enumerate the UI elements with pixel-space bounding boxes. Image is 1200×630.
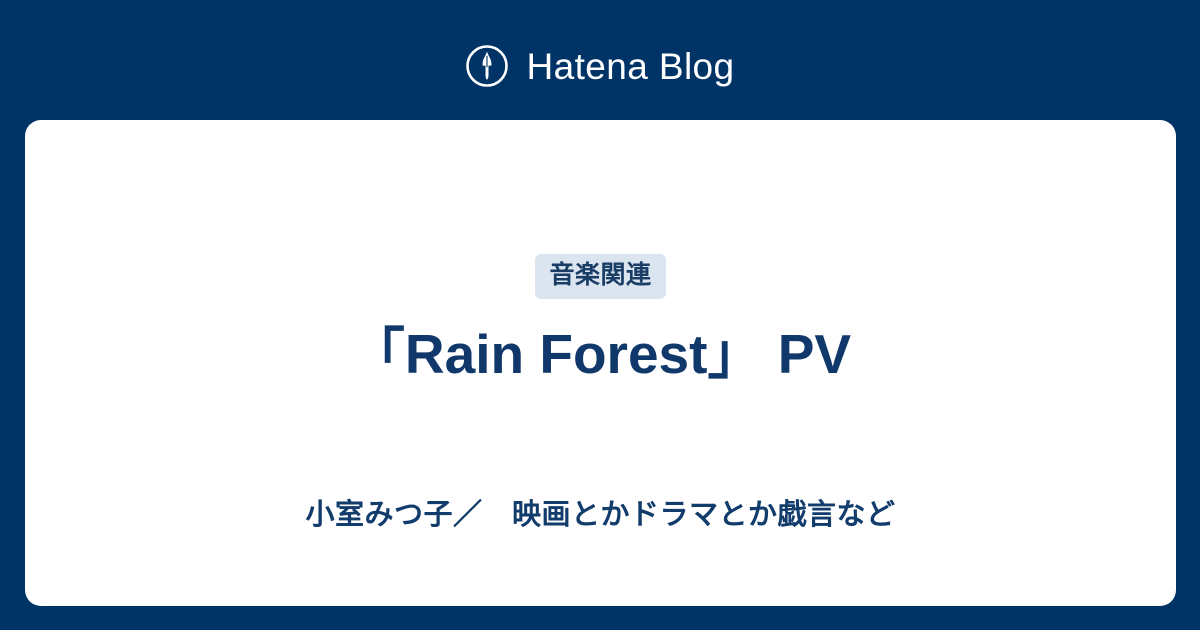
entry-block: 音楽関連 「Rain Forest」 PV [25, 254, 1176, 386]
brand-name: Hatena Blog [526, 48, 734, 85]
hatena-blog-og-card: Hatena Blog 音楽関連 「Rain Forest」 PV 小室みつ子／… [0, 0, 1200, 630]
brand-header: Hatena Blog [0, 36, 1200, 96]
hatena-pen-nib-icon [465, 44, 509, 88]
entry-title: 「Rain Forest」 PV [350, 323, 851, 386]
content-panel: 音楽関連 「Rain Forest」 PV 小室みつ子／ 映画とかドラマとか戯言… [25, 120, 1176, 606]
blog-name: 小室みつ子／ 映画とかドラマとか戯言など [25, 498, 1176, 533]
category-badge[interactable]: 音楽関連 [535, 254, 665, 299]
